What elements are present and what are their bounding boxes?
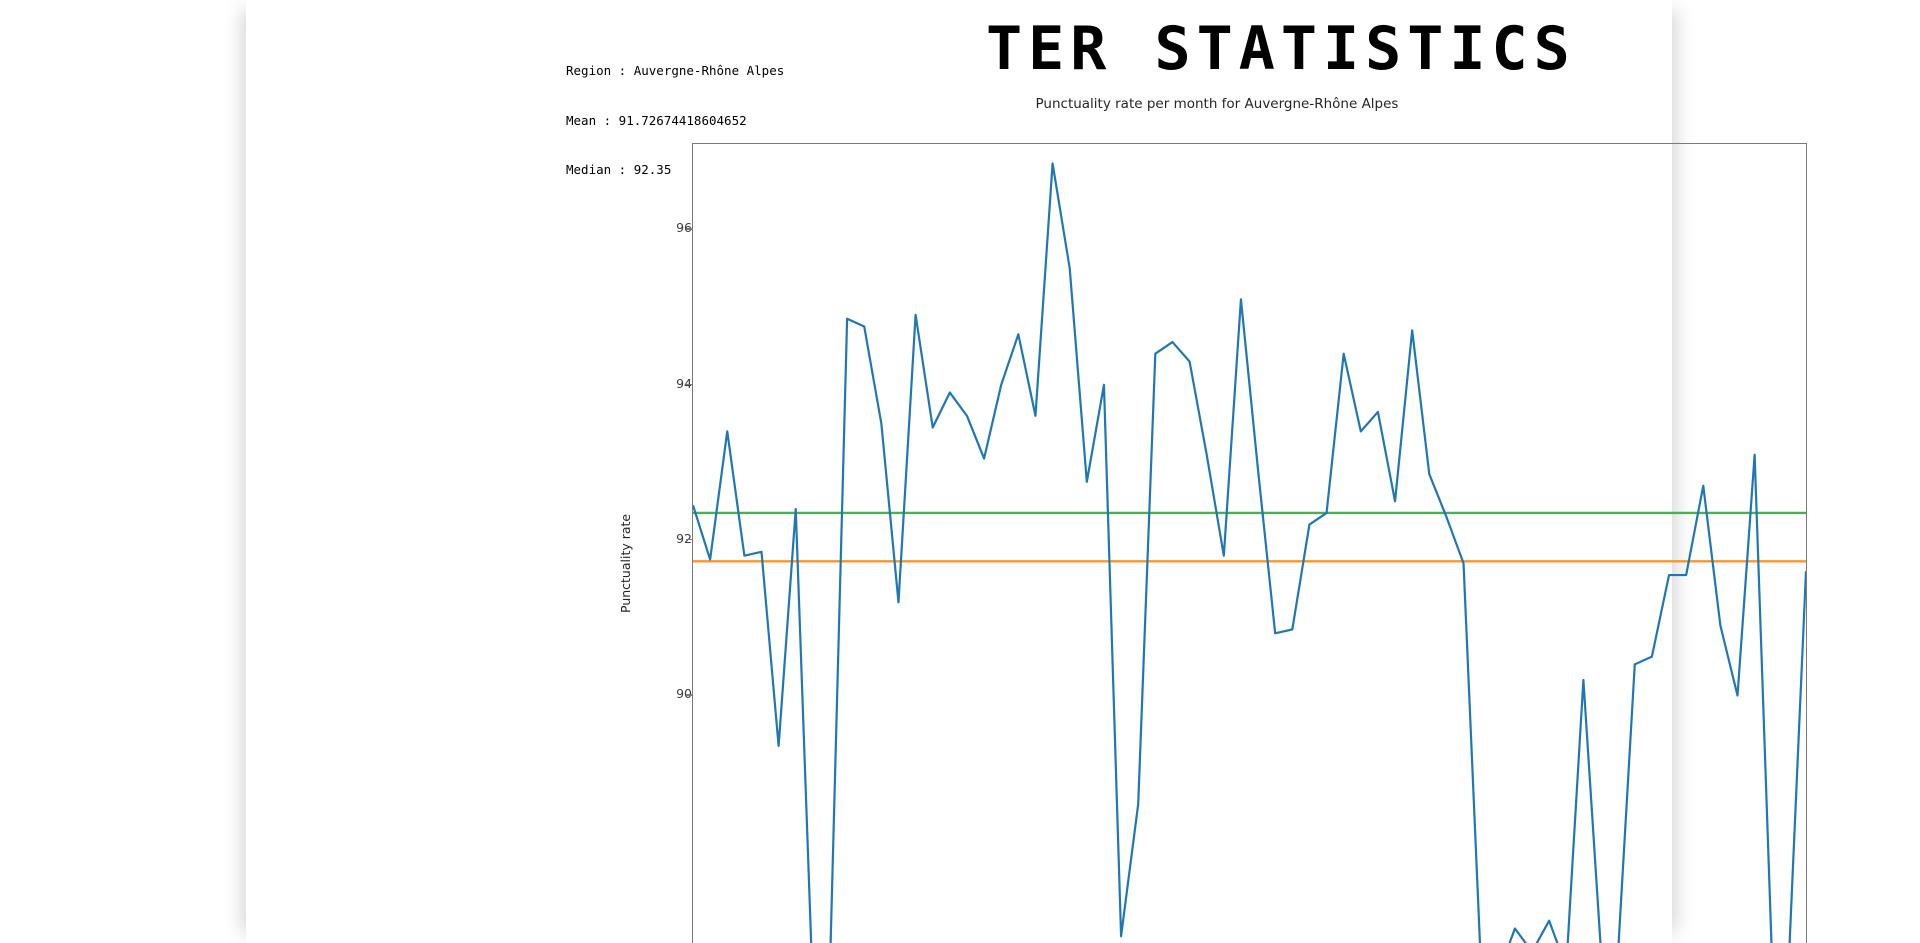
y-axis: Punctuality rate 90929496: [626, 143, 692, 943]
document-page: Region : Auvergne-Rhône Alpes Mean : 91.…: [246, 0, 1672, 943]
plot-svg: [693, 144, 1806, 943]
punctuality-chart: Punctuality rate per month for Auvergne-…: [626, 96, 1826, 943]
series-line-punctuality-rate: [693, 163, 1806, 943]
page-title: TER STATISTICS: [986, 18, 1576, 80]
screenshot-viewport: Region : Auvergne-Rhône Alpes Mean : 91.…: [0, 0, 1920, 943]
chart-title: Punctuality rate per month for Auvergne-…: [626, 96, 1808, 112]
y-axis-label: Punctuality rate: [618, 514, 633, 613]
page-gutter-left: [0, 0, 246, 943]
stats-region-line: Region : Auvergne-Rhône Alpes: [566, 63, 784, 80]
plot-area: [692, 143, 1807, 943]
